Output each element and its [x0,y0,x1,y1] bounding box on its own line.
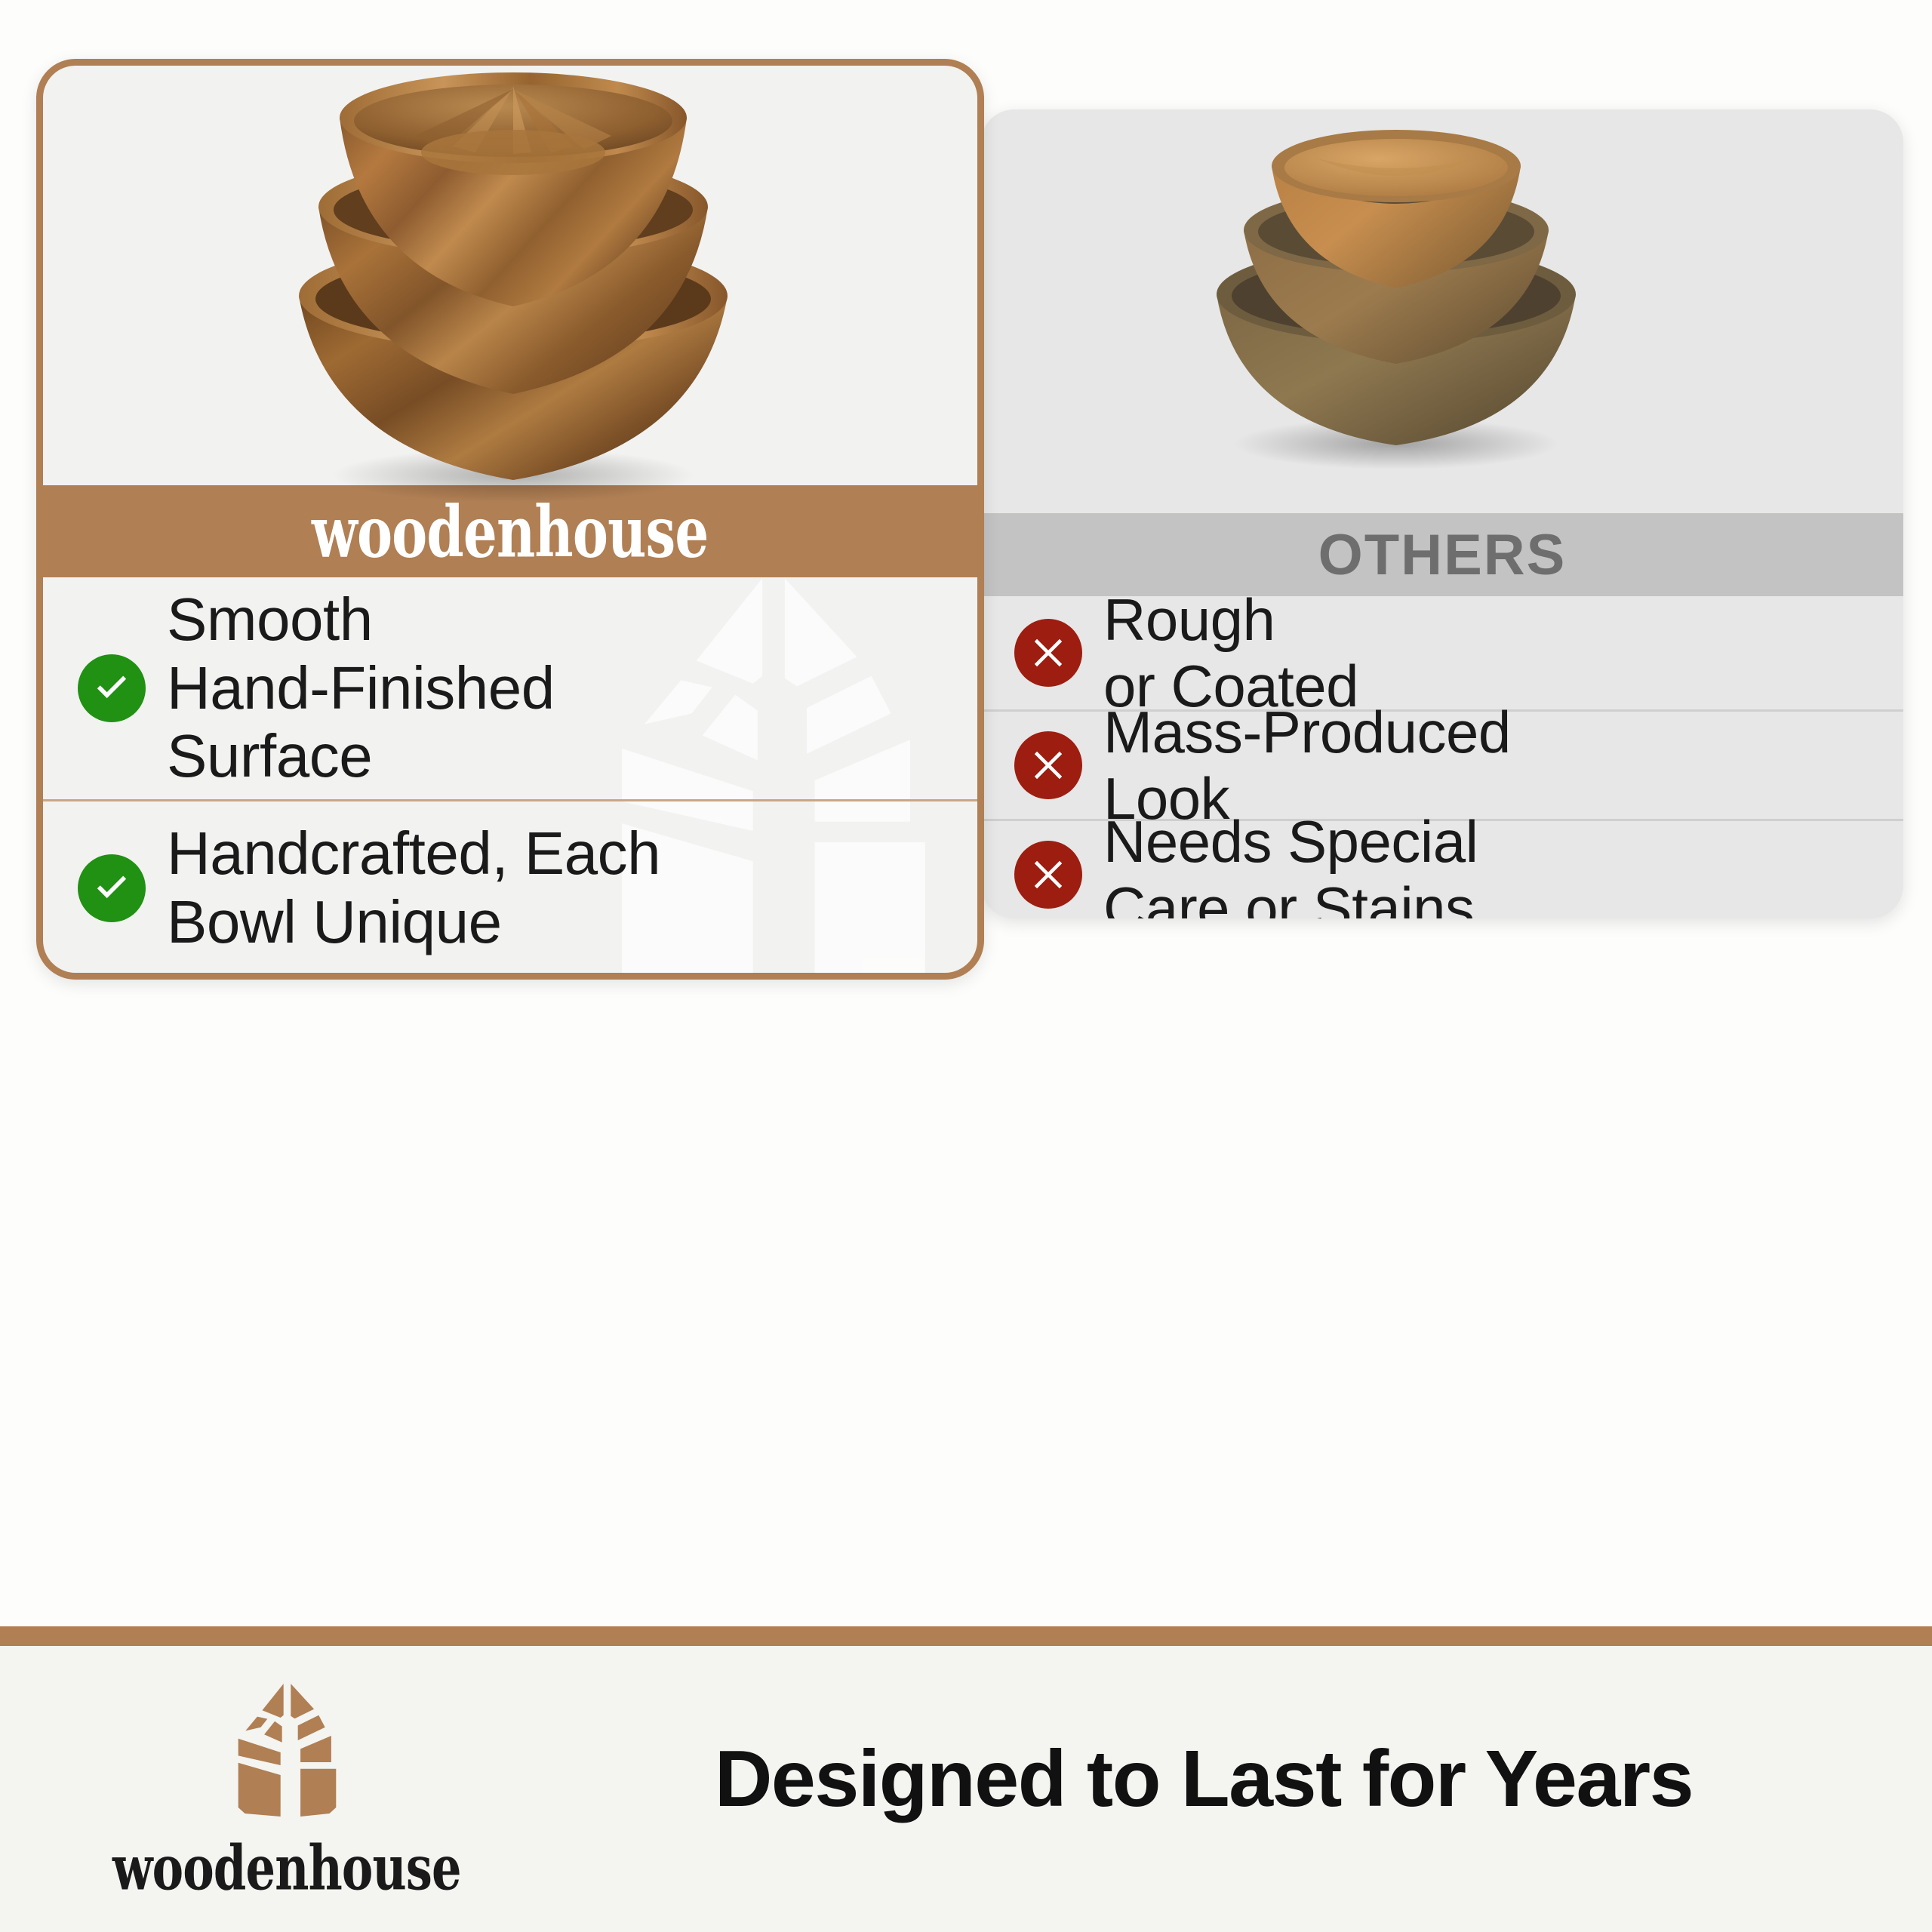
footer-brand-logo: woodenhouse [53,1652,521,1924]
brand-feature-row: Handcrafted, Each Bowl Unique [43,801,977,974]
brand-feature-label: Smooth Hand-Finished Surface [167,586,555,790]
others-header-bar: OTHERS [981,513,1903,596]
x-circle-icon [1014,731,1082,799]
brand-feature-row: Easy to Wipe & Store [43,977,977,980]
others-header-label: OTHERS [1318,522,1567,588]
footer: woodenhouse Designed to Last for Years [0,1646,1932,1932]
others-feature-list: Rough or Coated Mass-Produced Look [981,596,1903,918]
footer-wordmark: woodenhouse [112,1833,461,1905]
others-feature-row: Rough or Coated [981,596,1903,709]
brand-feature-row: Smooth Hand-Finished Surface [43,577,977,799]
brand-header-label: woodenhouse [312,490,708,574]
check-circle-icon [78,854,146,922]
brand-header-bar: woodenhouse [43,485,977,577]
brand-comparison-card: woodenhouse Smooth Hand-Finished Surface [36,59,984,980]
footer-divider-rule [0,1626,1932,1646]
x-circle-icon [1014,841,1082,909]
others-feature-row: Needs Special Care or Stains [981,821,1903,918]
others-feature-label: Needs Special Care or Stains [1103,808,1478,918]
house-tree-logo-icon [210,1675,365,1826]
brand-row-divider [43,974,977,977]
brand-feature-label: Handcrafted, Each Bowl Unique [167,820,660,956]
check-circle-icon [78,654,146,722]
comparison-stage: OTHERS Rough or Coated Mass-Produced [0,0,1932,1626]
brand-feature-list: Smooth Hand-Finished Surface Handcrafted… [43,577,977,973]
others-feature-row: Mass-Produced Look [981,712,1903,819]
others-comparison-card: OTHERS Rough or Coated Mass-Produced [981,109,1903,918]
footer-tagline: Designed to Last for Years [521,1646,1887,1932]
x-circle-icon [1014,619,1082,687]
